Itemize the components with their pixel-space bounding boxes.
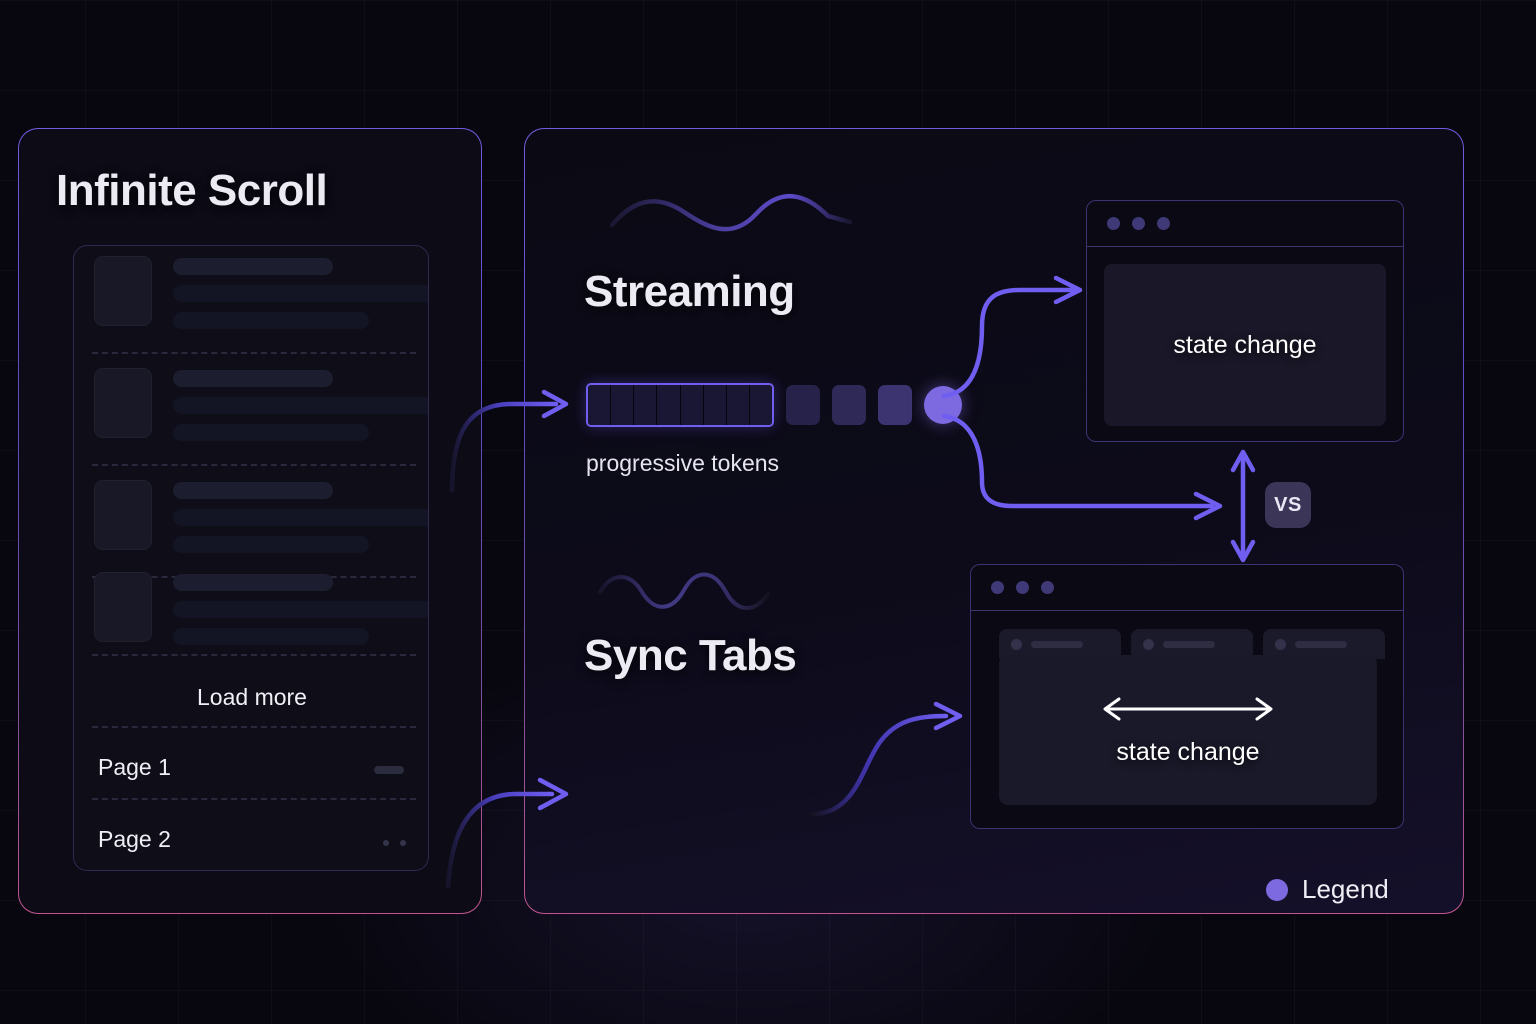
skeleton-list-item bbox=[94, 572, 414, 656]
skeleton-text-line bbox=[173, 601, 429, 618]
versus-badge: VS bbox=[1265, 482, 1311, 528]
token-square-2 bbox=[832, 385, 866, 425]
skeleton-list-card: Load morePage 1Page 2 bbox=[73, 245, 429, 871]
window-dot-icon bbox=[1157, 217, 1170, 230]
state-change-label: state change bbox=[1173, 331, 1316, 360]
window-dot-icon bbox=[1132, 217, 1145, 230]
legend-label: Legend bbox=[1302, 874, 1389, 905]
diagram-canvas: Infinite Scroll Load morePage 1Page 2 bbox=[0, 0, 1536, 1024]
skeleton-text-line bbox=[173, 285, 429, 302]
legend-dot-icon bbox=[1266, 879, 1288, 901]
progressive-token-strip bbox=[586, 383, 962, 427]
window-screen: state change bbox=[999, 655, 1377, 805]
token-cell bbox=[634, 385, 657, 425]
token-cell bbox=[588, 385, 611, 425]
browser-window-streaming: state change bbox=[1086, 200, 1404, 442]
state-change-label: state change bbox=[1116, 738, 1259, 767]
token-square-1 bbox=[786, 385, 820, 425]
token-cell bbox=[704, 385, 727, 425]
window-titlebar bbox=[971, 565, 1403, 611]
page-label: Page 1 bbox=[98, 754, 171, 781]
skeleton-text-line bbox=[173, 258, 333, 275]
window-body: state change bbox=[971, 611, 1403, 828]
skeleton-text-line bbox=[173, 482, 333, 499]
window-dot-icon bbox=[991, 581, 1004, 594]
page-row[interactable]: Page 1 bbox=[74, 738, 429, 800]
skeleton-text-line bbox=[173, 424, 369, 441]
skeleton-thumbnail bbox=[94, 480, 152, 550]
token-progress-bar bbox=[586, 383, 774, 427]
skeleton-list-item bbox=[94, 480, 414, 564]
page-indicator-dash bbox=[374, 766, 404, 774]
list-divider bbox=[92, 464, 416, 466]
tab-title-placeholder bbox=[1163, 641, 1215, 648]
tab-favicon-icon bbox=[1011, 639, 1022, 650]
skeleton-thumbnail bbox=[94, 368, 152, 438]
tab-title-placeholder bbox=[1031, 641, 1083, 648]
list-divider bbox=[92, 654, 416, 656]
token-cell bbox=[750, 385, 772, 425]
window-titlebar bbox=[1087, 201, 1403, 247]
window-dot-icon bbox=[1041, 581, 1054, 594]
browser-window-sync-tabs: state change bbox=[970, 564, 1404, 829]
skeleton-text-line bbox=[173, 509, 429, 526]
bidirectional-arrow-icon bbox=[1093, 694, 1283, 724]
token-cell bbox=[681, 385, 704, 425]
page-label: Page 2 bbox=[98, 826, 171, 853]
skeleton-text-line bbox=[173, 370, 333, 387]
token-cell bbox=[657, 385, 680, 425]
tab-title-placeholder bbox=[1295, 641, 1347, 648]
token-square-3 bbox=[878, 385, 912, 425]
page-indicator-dots bbox=[383, 840, 406, 846]
legend: Legend bbox=[1266, 874, 1389, 905]
stream-node-dot-icon bbox=[924, 386, 962, 424]
window-dot-icon bbox=[1107, 217, 1120, 230]
list-divider bbox=[92, 352, 416, 354]
list-divider bbox=[92, 798, 416, 800]
skeleton-text-line bbox=[173, 574, 333, 591]
section-title-sync-tabs: Sync Tabs bbox=[584, 631, 796, 681]
window-screen: state change bbox=[1104, 264, 1386, 426]
skeleton-text-line bbox=[173, 536, 369, 553]
section-title-streaming: Streaming bbox=[584, 267, 795, 317]
tab-favicon-icon bbox=[1143, 639, 1154, 650]
page-title-infinite-scroll: Infinite Scroll bbox=[56, 166, 327, 216]
skeleton-list-item bbox=[94, 256, 414, 340]
tokens-caption: progressive tokens bbox=[586, 450, 779, 477]
token-cell bbox=[727, 385, 750, 425]
window-dot-icon bbox=[1016, 581, 1029, 594]
list-divider bbox=[92, 726, 416, 728]
skeleton-thumbnail bbox=[94, 572, 152, 642]
skeleton-text-line bbox=[173, 397, 429, 414]
skeleton-text-line bbox=[173, 312, 369, 329]
tab-favicon-icon bbox=[1275, 639, 1286, 650]
load-more-button[interactable]: Load more bbox=[74, 684, 429, 711]
skeleton-text-line bbox=[173, 628, 369, 645]
window-body: state change bbox=[1087, 247, 1403, 442]
skeleton-thumbnail bbox=[94, 256, 152, 326]
page-row[interactable]: Page 2 bbox=[74, 810, 429, 871]
skeleton-list-item bbox=[94, 368, 414, 452]
token-cell bbox=[611, 385, 634, 425]
